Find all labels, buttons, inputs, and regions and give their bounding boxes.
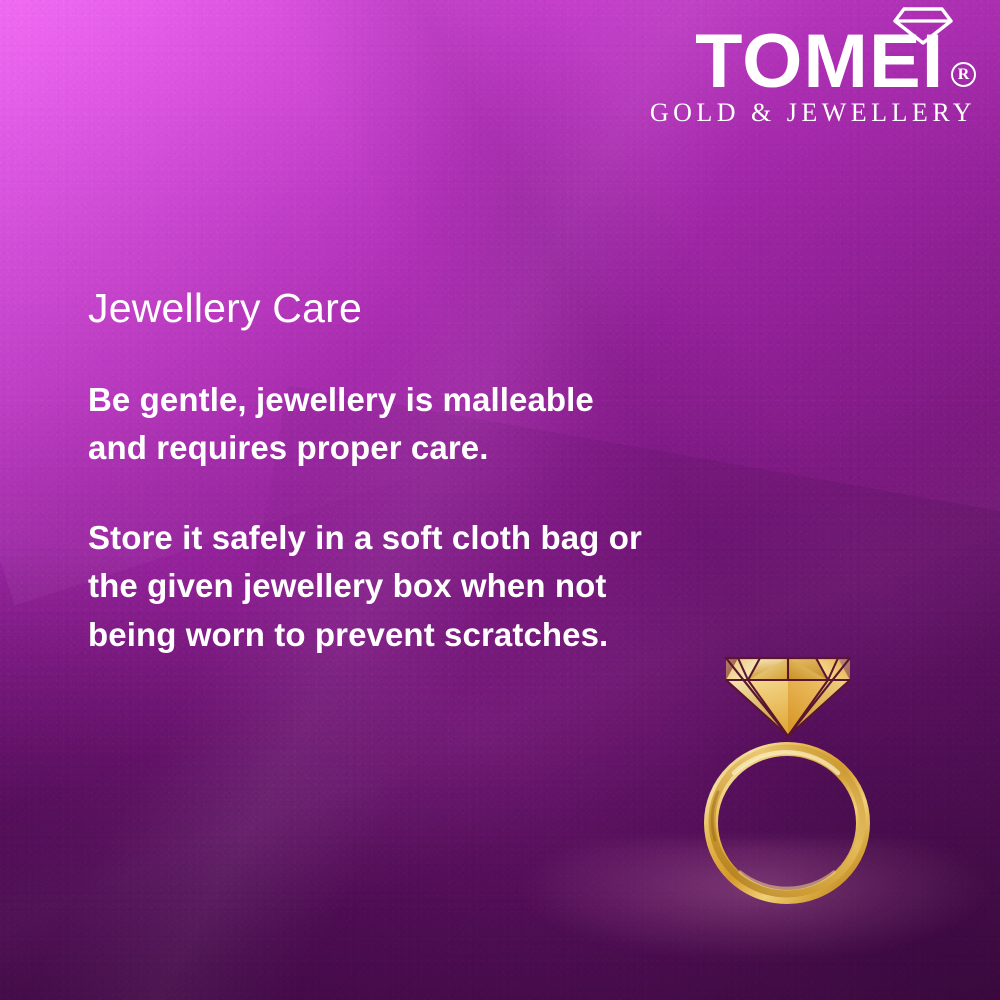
brand-logo: TOMEI R GOLD & JEWELLERY	[646, 8, 976, 128]
poster-canvas: TOMEI R GOLD & JEWELLERY Jewellery Care …	[0, 0, 1000, 1000]
page-title: Jewellery Care	[88, 286, 658, 332]
registered-trademark-icon: R	[951, 62, 976, 87]
care-paragraph-2: Store it safely in a soft cloth bag or t…	[88, 514, 658, 659]
logo-tomei-text: TOMEI	[695, 28, 944, 96]
care-paragraph-1: Be gentle, jewellery is malleable and re…	[88, 376, 658, 472]
logo-wordmark-row: TOMEI R	[646, 8, 976, 94]
diamond-ring-illustration	[688, 640, 888, 910]
diamond-gem-icon	[726, 658, 850, 736]
copy-block: Jewellery Care Be gentle, jewellery is m…	[88, 286, 658, 659]
gold-ring-band-icon	[711, 748, 863, 897]
logo-word-group: TOMEI R	[700, 28, 976, 96]
